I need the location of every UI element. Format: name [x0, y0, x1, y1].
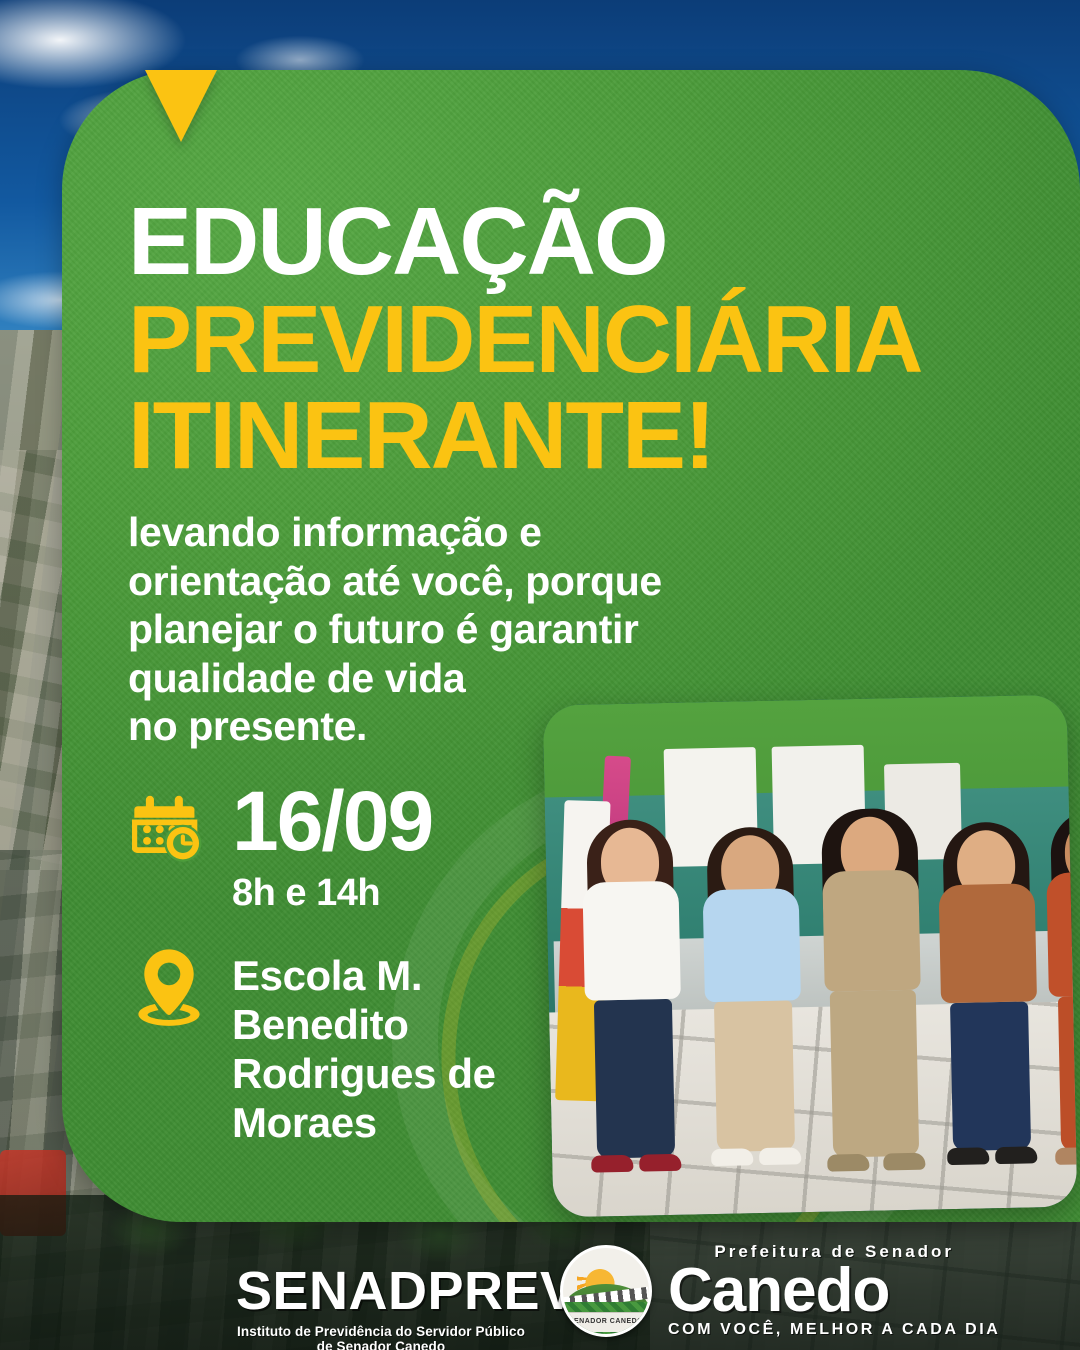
crest-caption: SENADOR CANEDO	[563, 1318, 649, 1325]
canedo-slogan: COM VOCÊ, MELHOR A CADA DIA	[668, 1321, 1000, 1339]
senadprev-logo: SENADPREV Instituto de Previdência do Se…	[236, 1264, 526, 1350]
person-figure	[821, 816, 924, 1158]
location-line: Rodrigues de	[232, 1049, 562, 1098]
map-pin-icon	[128, 941, 210, 1027]
calendar-clock-icon	[128, 784, 210, 864]
lede-line: orientação até você, porque	[128, 557, 728, 605]
person-figure	[701, 834, 804, 1152]
lede-line: qualidade de vida	[128, 654, 728, 702]
headline-line-1: EDUCAÇÃO	[128, 196, 958, 288]
senadprev-wordmark: SENADPREV	[236, 1264, 526, 1318]
event-date: 16/09	[232, 784, 432, 860]
canedo-name: Canedo	[668, 1262, 1000, 1319]
headline-line-2: PREVIDENCIÁRIA	[128, 294, 958, 386]
canedo-wordmark-block: Prefeitura de Senador Canedo COM VOCÊ, M…	[668, 1242, 1000, 1339]
headline: EDUCAÇÃO PREVIDENCIÁRIA ITINERANTE!	[128, 196, 958, 482]
footer-logos: SENADPREV Instituto de Previdência do Se…	[0, 1228, 1080, 1350]
lede-line: levando informação e	[128, 508, 728, 556]
person-figure	[581, 827, 684, 1159]
location-line: Escola M.	[232, 951, 562, 1000]
location-line: Moraes	[232, 1098, 562, 1147]
ribbon-notch-icon	[145, 70, 217, 142]
team-photo	[543, 695, 1078, 1218]
location-line: Benedito	[232, 1000, 562, 1049]
prefeitura-canedo-logo: SENADOR CANEDO Prefeitura de Senador Can…	[560, 1242, 1000, 1339]
event-location: Escola M. Benedito Rodrigues de Moraes	[232, 941, 562, 1148]
event-times: 8h e 14h	[232, 872, 432, 915]
headline-line-3: ITINERANTE!	[128, 390, 958, 482]
canedo-coat-of-arms-icon: SENADOR CANEDO	[560, 1245, 652, 1337]
date-text-block: 16/09 8h e 14h	[232, 784, 432, 915]
lede-line: planejar o futuro é garantir	[128, 605, 728, 653]
person-figure	[937, 829, 1040, 1151]
senadprev-tagline: Instituto de Previdência do Servidor Púb…	[236, 1324, 526, 1350]
